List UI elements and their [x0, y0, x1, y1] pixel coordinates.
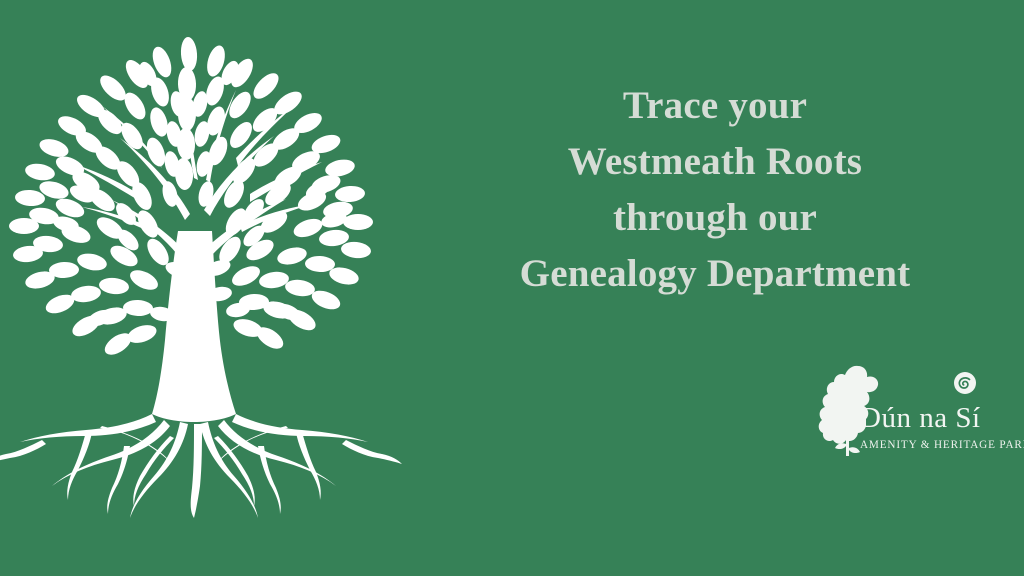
logo-tagline: AMENITY & HERITAGE PARK — [860, 438, 1020, 452]
headline-block: Trace your Westmeath Roots through our G… — [430, 78, 1000, 302]
family-tree-illustration — [0, 18, 412, 518]
headline-line-2: Westmeath Roots — [430, 134, 1000, 190]
dun-na-si-logo[interactable]: Dún na Sí AMENITY & HERITAGE PARK — [812, 358, 1012, 470]
celtic-spiral-icon — [952, 370, 978, 396]
headline-line-3: through our — [430, 190, 1000, 246]
promo-banner: Trace your Westmeath Roots through our G… — [0, 0, 1024, 576]
headline-line-4: Genealogy Department — [430, 246, 1000, 302]
logo-name: Dún na Sí — [860, 402, 1012, 434]
headline-line-1: Trace your — [430, 78, 1000, 134]
